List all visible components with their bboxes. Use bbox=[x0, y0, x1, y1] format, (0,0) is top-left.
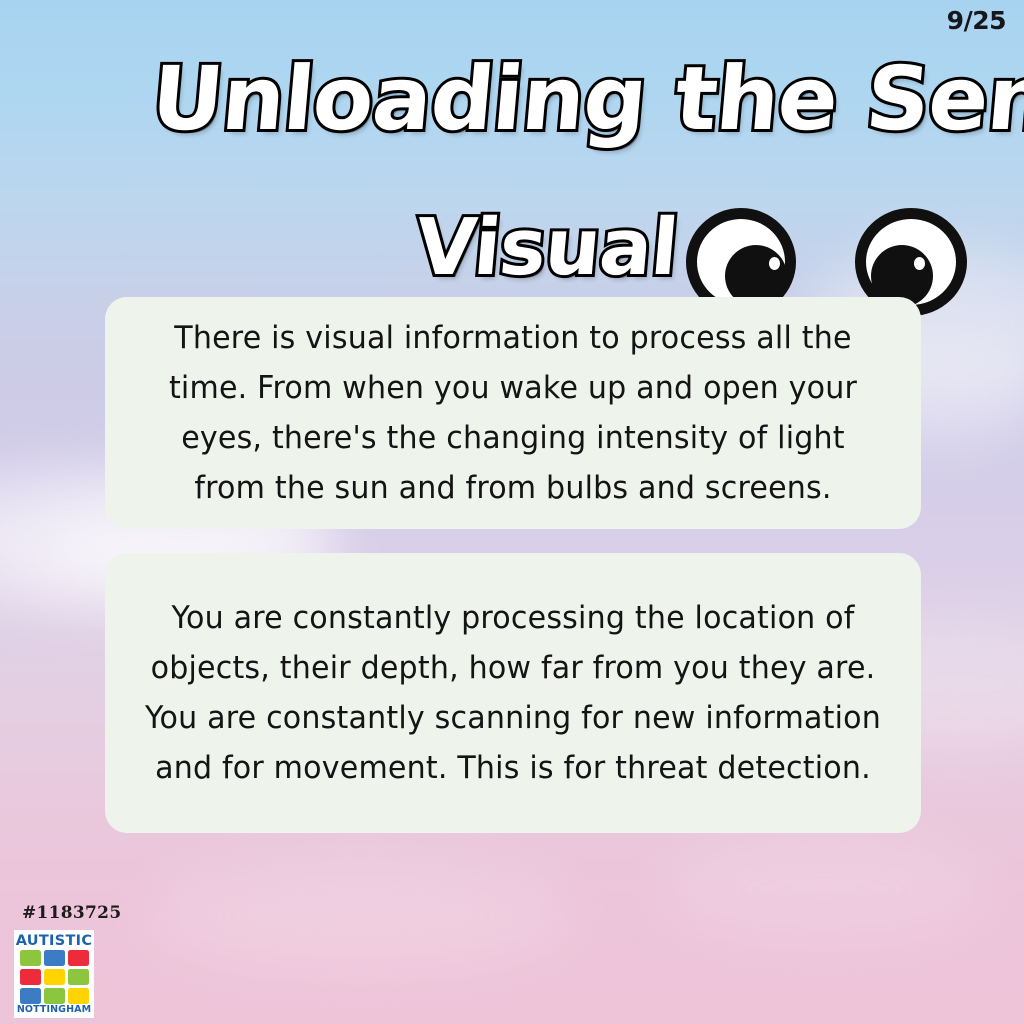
logo-tile bbox=[20, 969, 41, 985]
hashtag-label: #1183725 bbox=[22, 903, 121, 923]
card-paragraph: You are constantly processing the locati… bbox=[141, 593, 886, 793]
logo-tile-grid bbox=[20, 950, 89, 1004]
logo-top-word: AUTISTIC bbox=[16, 934, 93, 949]
text-card: There is visual information to process a… bbox=[105, 297, 921, 529]
section-subtitle: Visual bbox=[412, 203, 681, 293]
logo-tile bbox=[44, 969, 65, 985]
logo-tile bbox=[20, 988, 41, 1004]
logo-tile bbox=[44, 950, 65, 966]
text-card: You are constantly processing the locati… bbox=[105, 553, 921, 833]
eye-glint bbox=[769, 257, 780, 270]
logo-tile bbox=[68, 950, 89, 966]
card-paragraph: There is visual information to process a… bbox=[142, 313, 883, 513]
cloud-wisp bbox=[150, 860, 570, 970]
eye-glint bbox=[914, 257, 925, 270]
page-counter: 9/25 bbox=[947, 6, 1006, 35]
logo-tile bbox=[20, 950, 41, 966]
logo-tile bbox=[44, 988, 65, 1004]
logo-tile bbox=[68, 988, 89, 1004]
logo-tile bbox=[68, 969, 89, 985]
logo-bottom-word: NOTTINGHAM bbox=[17, 1005, 91, 1015]
page-title: Unloading the Senses bbox=[147, 47, 1024, 150]
autistic-nottingham-logo: AUTISTIC NOTTINGHAM bbox=[14, 930, 94, 1018]
slide-canvas: 9/25 Unloading the Senses Visual There i… bbox=[0, 0, 1024, 1024]
cloud-wisp bbox=[664, 840, 984, 940]
